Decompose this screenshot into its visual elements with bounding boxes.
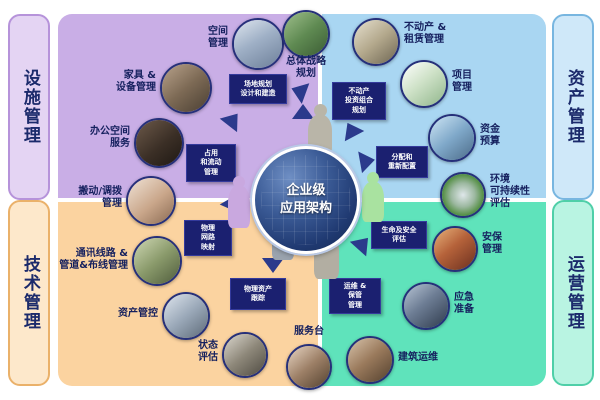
- node-label: 资产管控: [100, 308, 158, 320]
- process-box-re-portfolio[interactable]: 不动产 投资组合 规划: [332, 82, 386, 120]
- rail-operation[interactable]: 运营管理: [552, 200, 594, 386]
- center-globe-line2: 应用架构: [280, 200, 332, 218]
- rail-facility[interactable]: 设施管理: [8, 14, 50, 200]
- overall-strategy-icon: [282, 10, 330, 58]
- node-label: 环境 可持续性 评估: [490, 174, 560, 210]
- node-label: 通讯线路 & 管道&布线管理: [44, 248, 128, 272]
- emergency-prepare-icon: [402, 282, 450, 330]
- node-label: 安保 管理: [482, 232, 538, 256]
- rail-label-technology: 技术管理: [20, 255, 38, 331]
- service-desk-icon: [286, 344, 332, 390]
- node-label: 资金 预算: [480, 124, 536, 148]
- comm-cabling-icon: [132, 236, 182, 286]
- building-ops-icon: [346, 336, 394, 384]
- node-label: 建筑运维: [398, 352, 470, 364]
- move-transfer-icon: [126, 176, 176, 226]
- process-box-label: 场地规划 设计和建造: [241, 80, 276, 98]
- node-label: 搬动/调拨 管理: [52, 186, 122, 210]
- process-box-label: 不动产 投资组合 规划: [345, 87, 373, 114]
- center-globe[interactable]: 企业级 应用架构: [252, 146, 360, 254]
- furniture-equipment-icon: [160, 62, 212, 114]
- capital-budget-icon: [428, 114, 476, 162]
- process-box-label: 物理资产 跟踪: [244, 285, 272, 303]
- process-box-label: 运维 & 保管 管理: [344, 282, 367, 309]
- node-label: 不动产 & 租赁管理: [404, 22, 490, 46]
- process-box-site-planning[interactable]: 场地规划 设计和建造: [229, 74, 287, 104]
- node-label: 项目 管理: [452, 70, 508, 94]
- rail-label-operation: 运营管理: [564, 255, 582, 331]
- security-management-icon: [432, 226, 478, 272]
- process-box-life-safety[interactable]: 生命及安全 评估: [371, 221, 427, 249]
- node-label: 空间 管理: [168, 26, 228, 50]
- rail-label-facility: 设施管理: [20, 69, 38, 145]
- node-label: 家具 & 设备管理: [86, 70, 156, 94]
- process-box-label: 生命及安全 评估: [382, 226, 417, 244]
- process-box-label: 分配和 重新配置: [388, 153, 416, 171]
- node-label: 服务台: [280, 326, 338, 338]
- silhouette-person-facility-left: [228, 176, 250, 228]
- process-box-network-mapping[interactable]: 物理 网路 映射: [184, 220, 232, 256]
- office-space-service-icon: [134, 118, 184, 168]
- diagram-canvas: 设施管理 技术管理 资产管理 运营管理 空间 管理 家具 & 设备管理 办公空间…: [0, 0, 600, 400]
- realestate-lease-icon: [352, 18, 400, 66]
- rail-asset[interactable]: 资产管理: [552, 14, 594, 200]
- center-globe-line1: 企业级: [286, 182, 325, 200]
- rail-label-asset: 资产管理: [564, 69, 582, 145]
- condition-assessment-icon: [222, 332, 268, 378]
- project-management-icon: [400, 60, 448, 108]
- process-box-asset-tracking[interactable]: 物理资产 跟踪: [230, 278, 286, 310]
- node-label: 状态 评估: [166, 340, 218, 364]
- asset-control-icon: [162, 292, 210, 340]
- process-box-label: 物理 网路 映射: [201, 224, 215, 251]
- node-label: 办公空间 服务: [62, 126, 130, 150]
- rail-technology[interactable]: 技术管理: [8, 200, 50, 386]
- process-box-label: 占用 和流动 管理: [201, 149, 222, 176]
- process-box-ops-custody[interactable]: 运维 & 保管 管理: [329, 278, 381, 314]
- env-sustainability-icon: [440, 172, 486, 218]
- arrow-asset-tracking-out: [262, 258, 284, 273]
- node-label: 应急 准备: [454, 292, 510, 316]
- silhouette-person-asset-right: [362, 172, 384, 222]
